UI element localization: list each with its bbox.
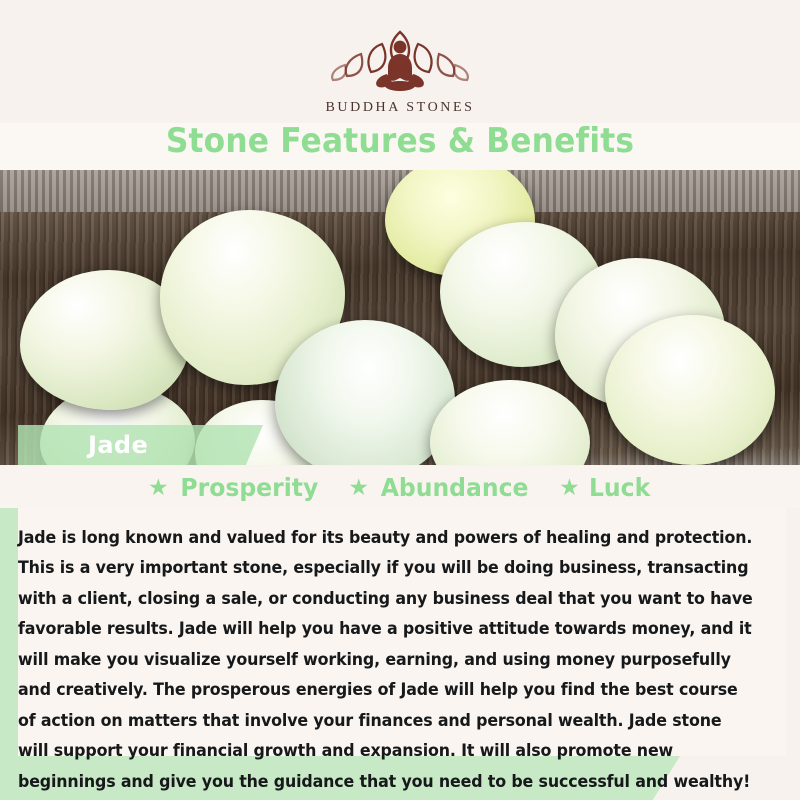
stone-shape [605, 315, 775, 465]
infographic-poster: BUDDHA STONES Stone Features & Benefits … [0, 0, 800, 800]
benefit-label: Abundance [381, 473, 529, 502]
lotus-meditation-icon [325, 18, 475, 96]
star-icon: ★ [559, 476, 580, 499]
benefits-row: ★ Prosperity ★ Abundance ★ Luck [0, 466, 800, 508]
benefit-label: Luck [589, 473, 650, 502]
benefit-label: Prosperity [180, 473, 318, 502]
stone-name-label: Jade [88, 431, 148, 459]
brand-name: BUDDHA STONES [0, 100, 800, 116]
benefit-item-prosperity: ★ Prosperity [148, 473, 322, 502]
benefit-item-abundance: ★ Abundance [348, 473, 533, 502]
star-icon: ★ [348, 476, 369, 499]
brand-logo: BUDDHA STONES [0, 18, 800, 116]
benefit-item-luck: ★ Luck [559, 473, 652, 502]
description-text: Jade is long known and valued for its be… [18, 523, 755, 798]
decor-green-left-strip [0, 466, 18, 780]
stone-photo [0, 170, 800, 465]
page-title: Stone Features & Benefits [32, 121, 768, 161]
star-icon: ★ [148, 476, 169, 499]
